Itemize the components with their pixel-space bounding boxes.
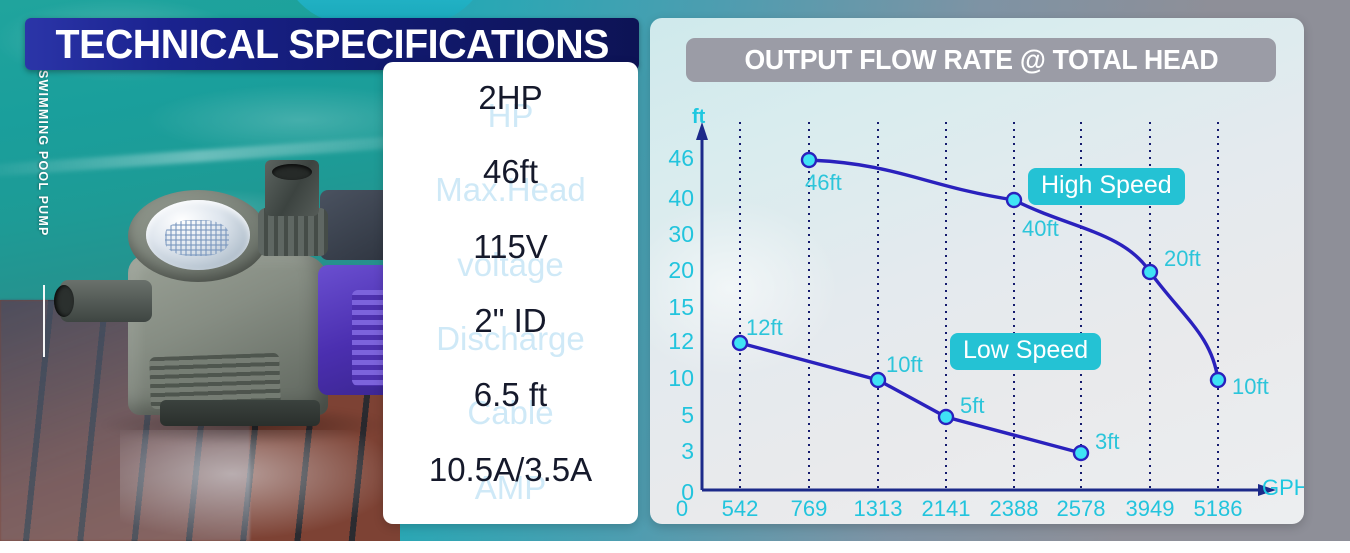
pump-base-foot (160, 400, 320, 426)
y-tick-label: 30 (650, 221, 694, 248)
data-point-marker (939, 410, 953, 424)
banner-title: TECHNICAL SPECIFICATIONS (55, 21, 608, 68)
y-tick-label: 10 (650, 365, 694, 392)
data-point-marker (802, 153, 816, 167)
x-tick-label: 3949 (1115, 496, 1185, 522)
vertical-product-label: SWIMMING POOL PUMP (24, 70, 50, 330)
chart-plot-svg (650, 18, 1304, 524)
y-tick-label: 12 (650, 328, 694, 355)
y-tick-label: 46 (650, 145, 694, 172)
x-axis-unit-label: GPH (1262, 475, 1304, 501)
data-point-marker (733, 336, 747, 350)
spec-row-amp: AMP 10.5A/3.5A (383, 445, 638, 509)
data-point-marker (1211, 373, 1225, 387)
data-point-marker (1074, 446, 1088, 460)
pump-inlet-port (265, 160, 319, 216)
y-tick-label: 15 (650, 294, 694, 321)
flow-rate-chart-panel: OUTPUT FLOW RATE @ TOTAL HEAD ft GPH 464… (650, 18, 1304, 524)
spec-value: 2HP (383, 79, 638, 117)
specifications-card: HP 2HP Max.Head 46ft voltage 115V Discha… (383, 62, 638, 524)
x-tick-label: 1313 (843, 496, 913, 522)
pump-strainer-basket (165, 220, 229, 256)
y-tick-label: 40 (650, 185, 694, 212)
data-point-label: 3ft (1095, 429, 1119, 455)
x-tick-label: 542 (705, 496, 775, 522)
infographic-stage: SWIMMING POOL PUMP TECHNICAL SPECIFICATI… (0, 0, 1350, 553)
data-point-marker (1007, 193, 1021, 207)
spec-value: 115V (383, 228, 638, 266)
vertical-rule (43, 285, 45, 357)
spec-row-hp: HP 2HP (383, 73, 638, 137)
y-tick-label: 5 (650, 402, 694, 429)
data-point-marker (871, 373, 885, 387)
x-tick-label: 2388 (979, 496, 1049, 522)
deck-sheen (120, 430, 400, 540)
spec-row-voltage: voltage 115V (383, 222, 638, 286)
axes-group (696, 122, 1276, 496)
spec-row-max-head: Max.Head 46ft (383, 147, 638, 211)
data-point-label: 10ft (886, 352, 923, 378)
x-tick-label: 769 (774, 496, 844, 522)
legend-badge-low-speed: Low Speed (950, 333, 1101, 370)
data-point-label: 20ft (1164, 246, 1201, 272)
x-tick-label: 2578 (1046, 496, 1116, 522)
y-tick-label: 20 (650, 257, 694, 284)
spec-value: 10.5A/3.5A (383, 451, 638, 489)
data-point-label: 12ft (746, 315, 783, 341)
background-bottom-strip (0, 541, 1350, 553)
spec-value: 46ft (383, 153, 638, 191)
x-tick-label: 2141 (911, 496, 981, 522)
pump-outlet-port (60, 280, 152, 322)
pool-pump-photo (0, 0, 400, 541)
spec-value: 2" ID (383, 302, 638, 340)
y-tick-label: 3 (650, 438, 694, 465)
spec-value: 6.5 ft (383, 376, 638, 414)
legend-badge-high-speed: High Speed (1028, 168, 1185, 205)
y-axis-unit-label: ft (692, 106, 705, 129)
data-point-marker (1143, 265, 1157, 279)
spec-row-discharge: Discharge 2" ID (383, 296, 638, 360)
data-point-label: 10ft (1232, 374, 1269, 400)
data-point-label: 5ft (960, 393, 984, 419)
data-point-label: 40ft (1022, 216, 1059, 242)
data-point-label: 46ft (805, 170, 842, 196)
x-tick-label: 5186 (1183, 496, 1253, 522)
spec-row-cable: Cable 6.5 ft (383, 370, 638, 434)
